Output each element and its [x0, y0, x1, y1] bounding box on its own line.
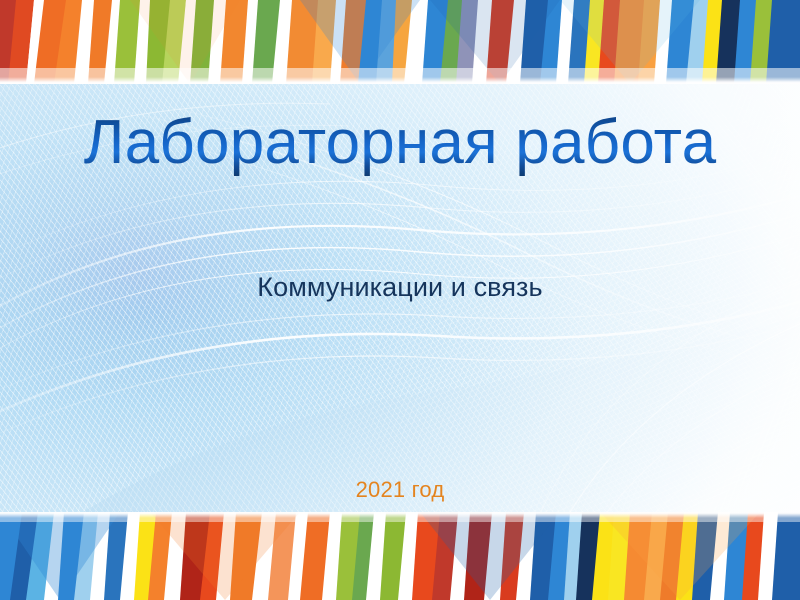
presentation-slide: Лабораторная работа Коммуникации и связь…	[0, 0, 800, 600]
top-decorative-band	[0, 0, 800, 84]
slide-title[interactable]: Лабораторная работа	[0, 110, 800, 176]
slide-year[interactable]: 2021 год	[0, 477, 800, 503]
bottom-decorative-band	[0, 512, 800, 600]
slide-subtitle[interactable]: Коммуникации и связь	[0, 272, 800, 303]
